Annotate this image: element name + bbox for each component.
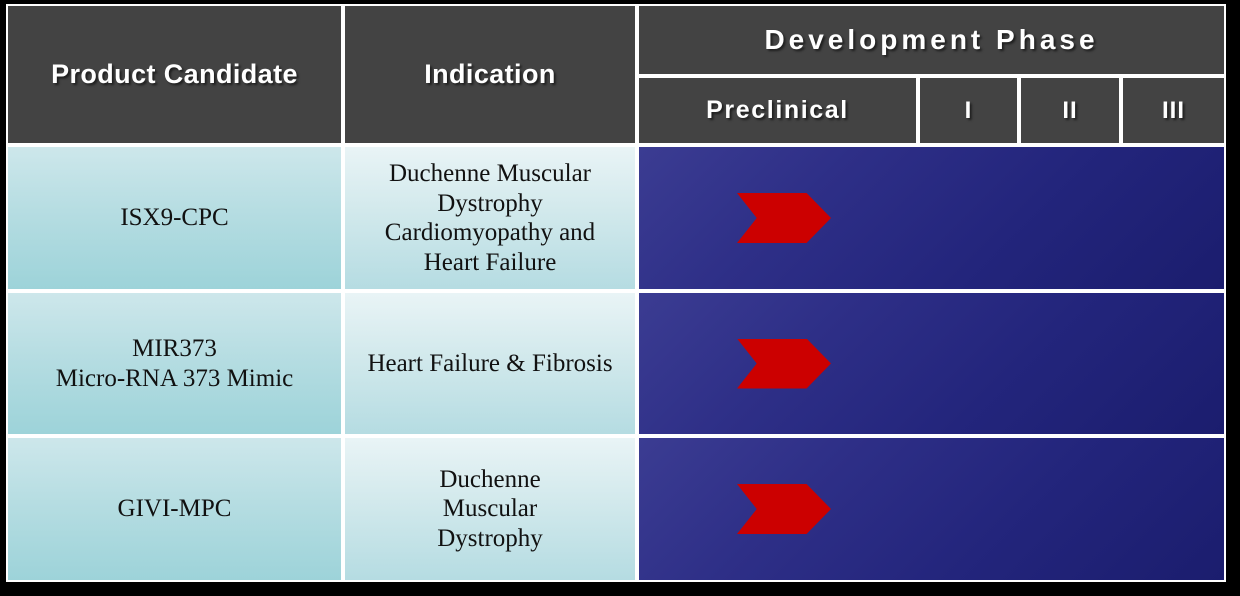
pipeline-table: Product Candidate Indication Development… <box>6 4 1226 582</box>
red-chevron-arrow-icon <box>737 339 831 389</box>
header-phase-1: I <box>918 76 1019 145</box>
row-3-phase-panel <box>637 436 1226 582</box>
pipeline-frame: Product Candidate Indication Development… <box>0 0 1240 596</box>
row-1-indication: Duchenne Muscular Dystrophy Cardiomyopat… <box>343 145 637 291</box>
header-product-candidate: Product Candidate <box>6 4 343 145</box>
row-3-progress-arrow <box>737 484 831 534</box>
row-1-phase-panel <box>637 145 1226 291</box>
row-2-indication: Heart Failure & Fibrosis <box>343 291 637 436</box>
header-phase-preclinical: Preclinical <box>637 76 918 145</box>
row-1-candidate: ISX9-CPC <box>6 145 343 291</box>
header-phase-3: III <box>1121 76 1226 145</box>
row-2-progress-arrow <box>737 339 831 389</box>
header-indication: Indication <box>343 4 637 145</box>
header-development-phase: Development Phase <box>637 4 1226 76</box>
red-chevron-arrow-icon <box>737 193 831 243</box>
row-3-candidate: GIVI-MPC <box>6 436 343 582</box>
red-chevron-arrow-icon <box>737 484 831 534</box>
row-2-candidate: MIR373 Micro-RNA 373 Mimic <box>6 291 343 436</box>
row-1-progress-arrow <box>737 193 831 243</box>
row-2-phase-panel <box>637 291 1226 436</box>
row-3-indication: Duchenne Muscular Dystrophy <box>343 436 637 582</box>
header-phase-2: II <box>1019 76 1121 145</box>
